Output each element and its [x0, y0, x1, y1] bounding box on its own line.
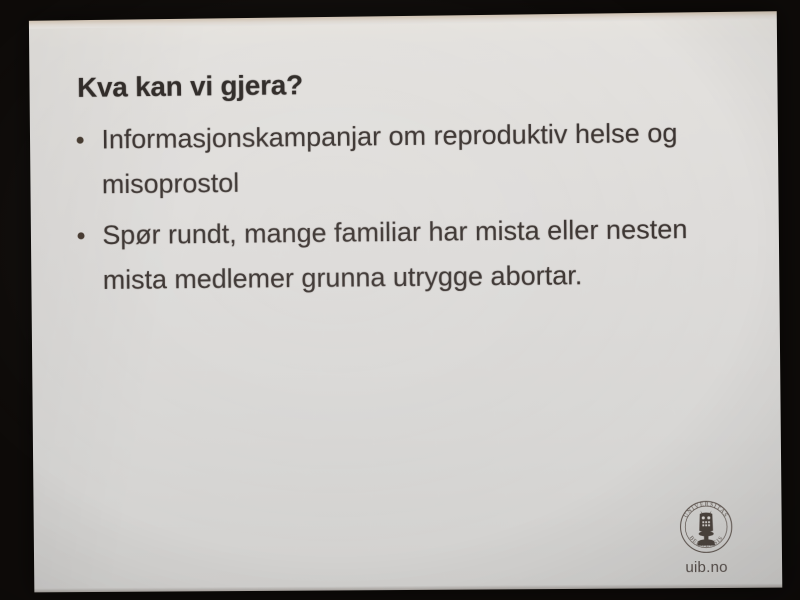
projected-slide-photo: Kva kan vi gjera? Informasjonskampanjar … [0, 0, 800, 600]
bullet-item-2: Spør rundt, mange familiar har mista ell… [70, 206, 741, 303]
slide-content: Kva kan vi gjera? Informasjonskampanjar … [29, 11, 782, 592]
uib-logo: UNIVERSITAS BERGENSIS [665, 495, 748, 576]
uib-url-text: uib.no [665, 559, 748, 577]
bullet-point-icon [77, 137, 84, 144]
bullet-text: Informasjonskampanjar om reproduktiv hel… [101, 118, 677, 199]
bullet-text: Spør rundt, mange familiar har mista ell… [102, 214, 687, 295]
bullet-item-1: Informasjonskampanjar om reproduktiv hel… [70, 110, 741, 208]
uib-seal-icon: UNIVERSITAS BERGENSIS [675, 496, 738, 559]
slide-surface: Kva kan vi gjera? Informasjonskampanjar … [29, 11, 782, 592]
bullet-list: Informasjonskampanjar om reproduktiv hel… [70, 110, 742, 309]
slide-title: Kva kan vi gjera? [77, 69, 303, 104]
bullet-point-icon [78, 232, 85, 239]
